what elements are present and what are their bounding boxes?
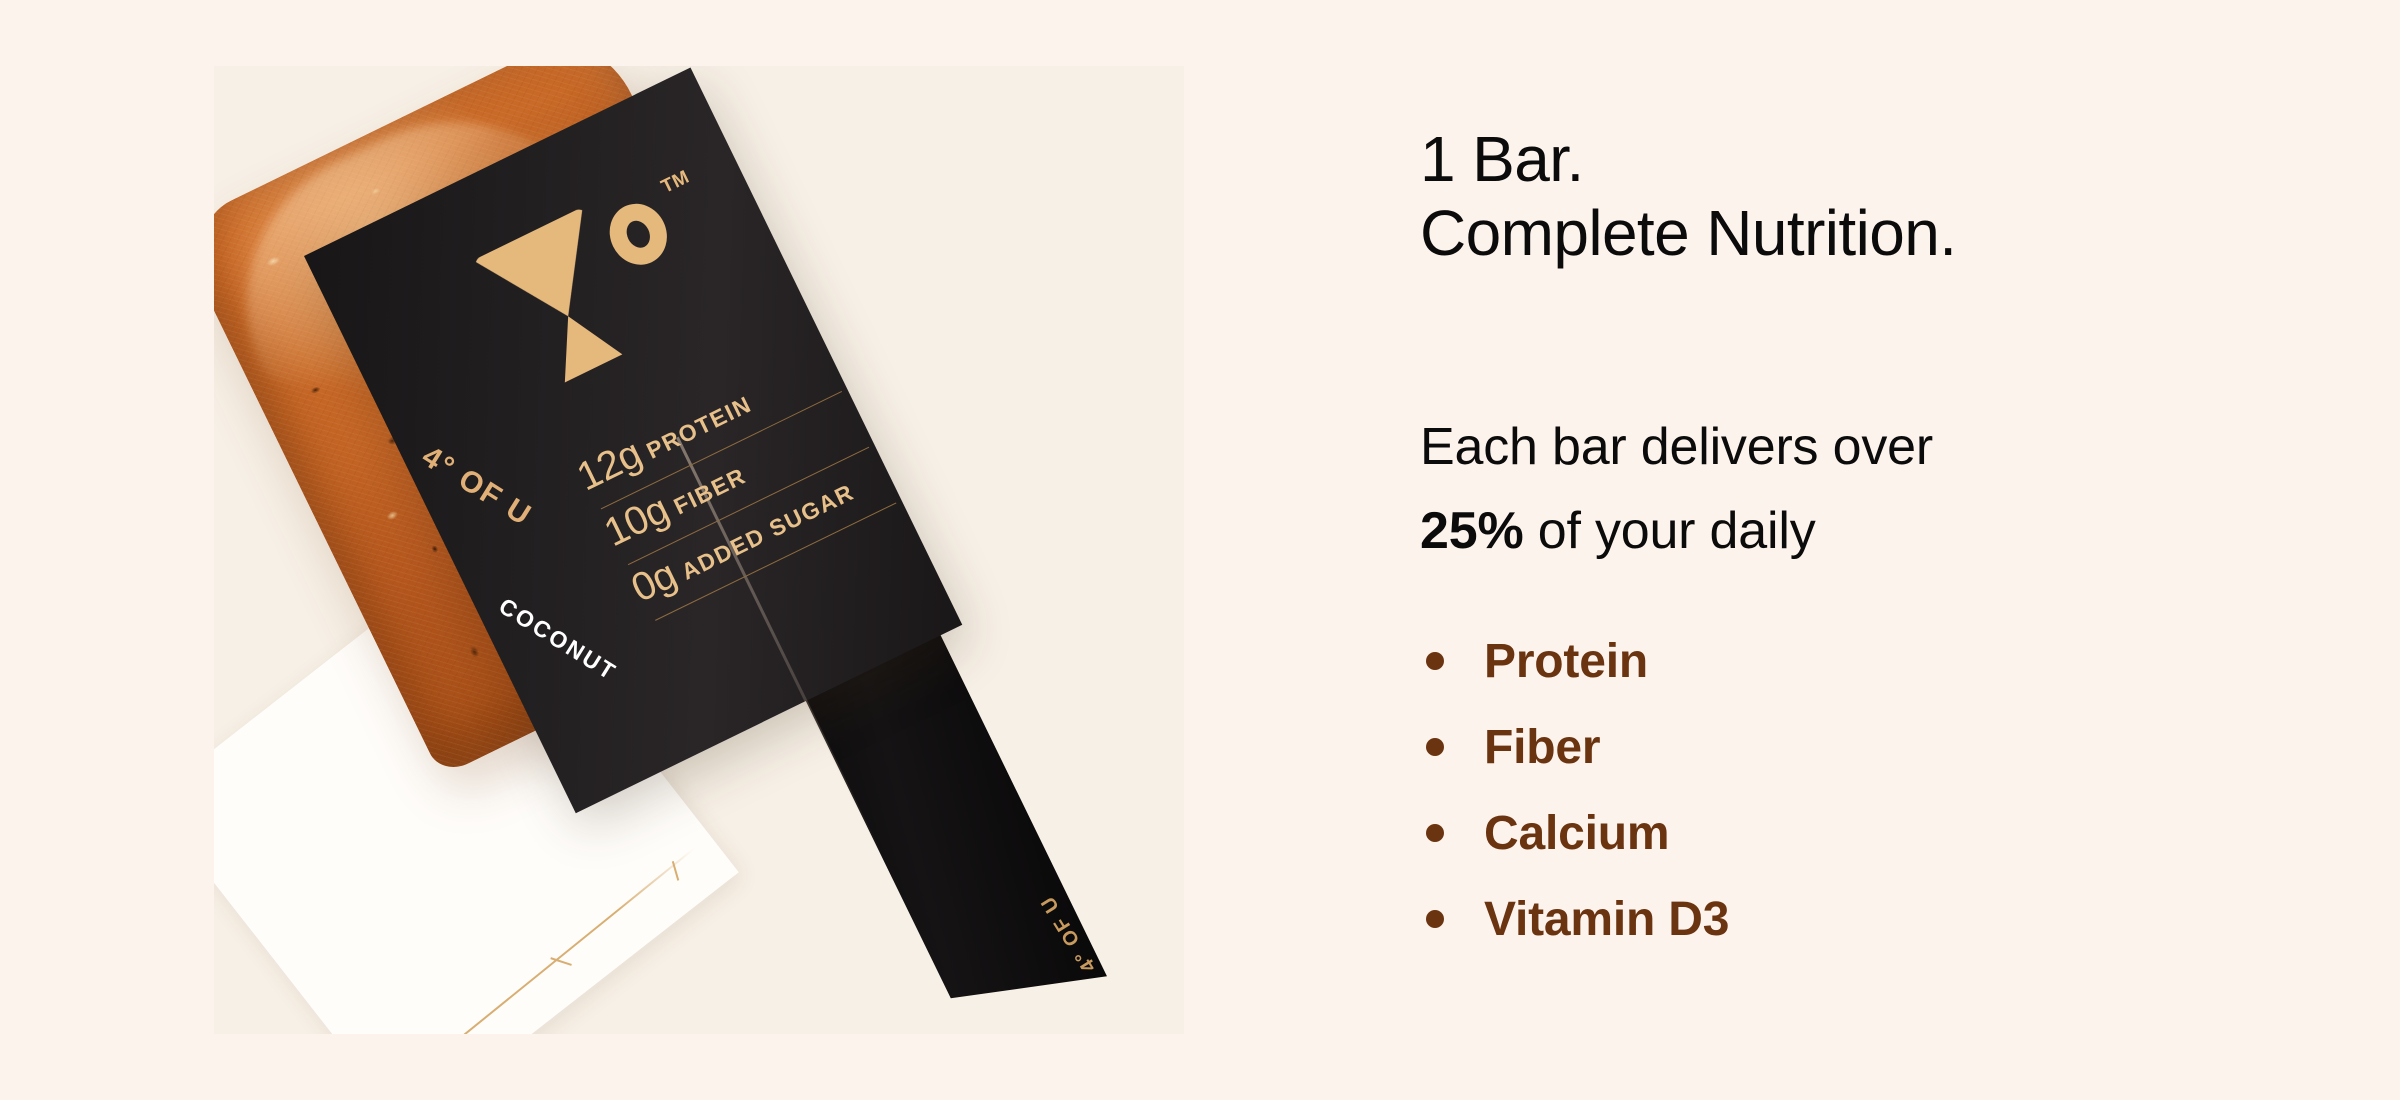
product-image-panel: TM 4° OF U COCONUT 12gPROTEIN 10gFIBER bbox=[214, 66, 1184, 1034]
bullet-icon bbox=[1426, 910, 1444, 928]
subcopy-percent: 25% bbox=[1420, 502, 1523, 560]
product-stage: TM 4° OF U COCONUT 12gPROTEIN 10gFIBER bbox=[214, 66, 1184, 1034]
page-root: TM 4° OF U COCONUT 12gPROTEIN 10gFIBER bbox=[0, 0, 2400, 1100]
nutrient-list: Protein Fiber Calcium Vitamin D3 bbox=[1420, 618, 1729, 962]
page-title: 1 Bar. Complete Nutrition. bbox=[1420, 122, 1956, 270]
list-item: Fiber bbox=[1420, 704, 1729, 790]
wrapper-gold-rule bbox=[414, 847, 695, 1034]
subcopy: Each bar delivers over 25% of your daily bbox=[1420, 405, 1933, 573]
list-item: Vitamin D3 bbox=[1420, 876, 1729, 962]
product-carton: TM 4° OF U COCONUT 12gPROTEIN 10gFIBER bbox=[304, 256, 864, 816]
bullet-icon bbox=[1426, 652, 1444, 670]
list-item: Protein bbox=[1420, 618, 1729, 704]
nutrient-label: Protein bbox=[1484, 634, 1648, 689]
nutrient-label: Fiber bbox=[1484, 720, 1600, 775]
list-item: Calcium bbox=[1420, 790, 1729, 876]
subcopy-trail: of your daily bbox=[1523, 502, 1815, 560]
bullet-icon bbox=[1426, 738, 1444, 756]
bullet-icon bbox=[1426, 824, 1444, 842]
nutrient-label: Calcium bbox=[1484, 806, 1669, 861]
copy-column: 1 Bar. Complete Nutrition. Each bar deli… bbox=[1420, 0, 2320, 1100]
nutrient-label: Vitamin D3 bbox=[1484, 892, 1729, 947]
subcopy-lead: Each bar delivers over bbox=[1420, 418, 1933, 476]
